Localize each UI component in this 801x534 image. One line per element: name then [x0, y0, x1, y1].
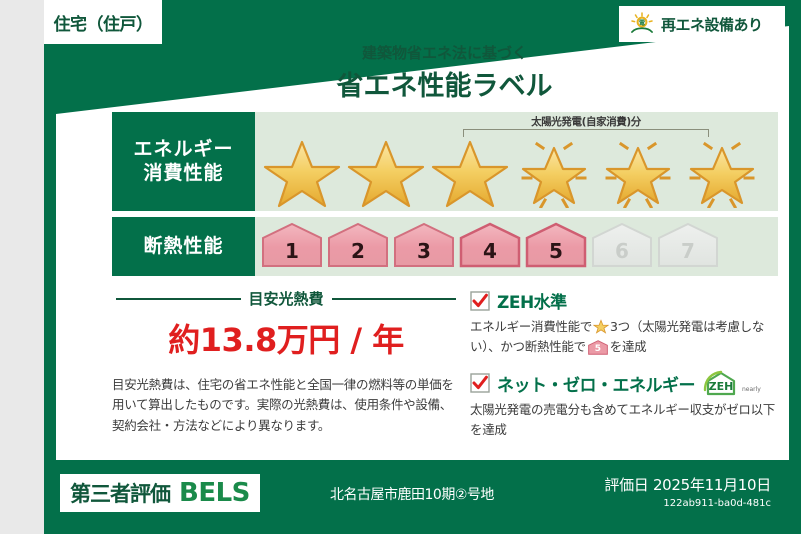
achievement-netzero-header: ネット・ゼロ・エネルギー ZEH nearly — [470, 370, 778, 396]
site-name: 北名古屋市鹿田10期②号地 — [330, 484, 494, 504]
house-icon-level-6: 6 — [591, 222, 653, 268]
dwelling-type-tag: 住宅（住戸） — [44, 0, 162, 44]
label-footer: 第三者評価 BELS 北名古屋市鹿田10期②号地 評価日 2025年11月10日… — [44, 460, 801, 534]
house-icon-level-1: 1 — [261, 222, 323, 268]
achievement-zeh-title: ZEH水準 — [497, 288, 567, 313]
svg-text:ZEH: ZEH — [709, 380, 734, 393]
renewable-equipment-badge: 電 再エネ設備あり — [619, 6, 785, 42]
house-icon-level-5: 5 — [525, 222, 587, 268]
evaluation-info: 評価日 2025年11月10日 122ab911-ba0d-481c — [604, 474, 771, 509]
star-icon — [593, 318, 609, 334]
star-icon — [429, 134, 511, 208]
house-level-number: 2 — [327, 239, 389, 263]
insulation-label-text: 断熱性能 — [143, 235, 223, 259]
inline-house-number: 5 — [588, 342, 608, 356]
energy-label-card: 建築物省エネ法に基づく 省エネ性能ラベル エネルギー 消費性能 太陽光発電(自家… — [44, 0, 801, 534]
utility-cost-heading-text: 目安光熱費 — [249, 288, 324, 309]
evaluation-date: 評価日 2025年11月10日 — [604, 474, 771, 495]
star-icon — [261, 134, 343, 208]
house-icon-inline: 5 — [588, 340, 608, 355]
svg-text:電: 電 — [639, 19, 645, 27]
star-icon-solar — [513, 134, 595, 208]
energy-label-line1: エネルギー — [133, 138, 233, 162]
house-level-number: 3 — [393, 239, 455, 263]
energy-performance-stars-panel: 太陽光発電(自家消費)分 — [255, 112, 778, 211]
utility-cost-value: 約13.8万円 / 年 — [112, 315, 460, 361]
star-icon-solar — [597, 134, 679, 208]
house-icon-level-7: 7 — [657, 222, 719, 268]
star-icon-solar — [681, 134, 763, 208]
house-icon-level-2: 2 — [327, 222, 389, 268]
house-level-number: 1 — [261, 239, 323, 263]
house-level-number: 5 — [525, 239, 587, 263]
achievement-net-zero-energy: ネット・ゼロ・エネルギー ZEH nearly 太陽光発電の売電分も含めてエネル… — [470, 370, 778, 440]
achievement-netzero-title: ネット・ゼロ・エネルギー — [497, 371, 695, 396]
energy-performance-label: エネルギー 消費性能 — [112, 112, 255, 211]
star-icon — [345, 134, 427, 208]
renewable-badge-text: 再エネ設備あり — [661, 14, 763, 35]
energy-performance-row: エネルギー 消費性能 太陽光発電(自家消費)分 — [112, 112, 778, 211]
insulation-levels-panel: 1 2 3 — [255, 217, 778, 276]
house-icon-level-3: 3 — [393, 222, 455, 268]
utility-cost-heading: 目安光熱費 — [112, 288, 460, 309]
checkbox-checked-icon — [470, 291, 490, 311]
insulation-performance-label: 断熱性能 — [112, 217, 255, 276]
evaluation-code: 122ab911-ba0d-481c — [604, 498, 771, 509]
zeh-house-logo: ZEH nearly — [702, 370, 761, 396]
utility-cost-column: 目安光熱費 約13.8万円 / 年 目安光熱費は、住宅の省エネ性能と全国一律の燃… — [112, 288, 460, 436]
house-level-number: 4 — [459, 239, 521, 263]
achievements-column: ZEH水準 エネルギー消費性能で3つ（太陽光発電は考慮しない）、かつ断熱性能で5… — [470, 288, 778, 453]
checkbox-checked-icon — [470, 373, 490, 393]
house-level-number: 6 — [591, 239, 653, 263]
insulation-performance-row: 断熱性能 — [112, 217, 778, 276]
house-level-number: 7 — [657, 239, 719, 263]
certification-jp-text: 第三者評価 — [70, 478, 170, 508]
details-section: 目安光熱費 約13.8万円 / 年 目安光熱費は、住宅の省エネ性能と全国一律の燃… — [112, 288, 778, 448]
rule-left — [116, 298, 241, 300]
ratings-section: エネルギー 消費性能 太陽光発電(自家消費)分 — [112, 112, 778, 282]
achievement-zeh-standard: ZEH水準 エネルギー消費性能で3つ（太陽光発電は考慮しない）、かつ断熱性能で5… — [470, 288, 778, 357]
achievement-netzero-body: 太陽光発電の売電分も含めてエネルギー収支がゼロ以下を達成 — [470, 400, 778, 440]
achievement-zeh-header: ZEH水準 — [470, 288, 778, 313]
bels-certification-plate: 第三者評価 BELS — [60, 474, 260, 512]
rule-right — [332, 298, 457, 300]
utility-cost-note: 目安光熱費は、住宅の省エネ性能と全国一律の燃料等の単価を用いて算出したものです。… — [112, 375, 460, 436]
solar-generation-note: 太陽光発電(自家消費)分 — [460, 114, 712, 129]
star-rating — [255, 134, 778, 208]
achievement-zeh-body: エネルギー消費性能で3つ（太陽光発電は考慮しない）、かつ断熱性能で5を達成 — [470, 317, 778, 357]
house-icon-level-4: 4 — [459, 222, 521, 268]
zeh-logo-subtext: nearly — [742, 387, 761, 396]
insulation-level-scale: 1 2 3 — [261, 222, 719, 268]
sun-icon: 電 — [629, 11, 655, 37]
zeh-body-part3: を達成 — [610, 339, 647, 354]
zeh-body-part1: エネルギー消費性能で — [470, 319, 592, 334]
energy-label-line2: 消費性能 — [143, 162, 223, 186]
certification-en-text: BELS — [179, 478, 250, 508]
